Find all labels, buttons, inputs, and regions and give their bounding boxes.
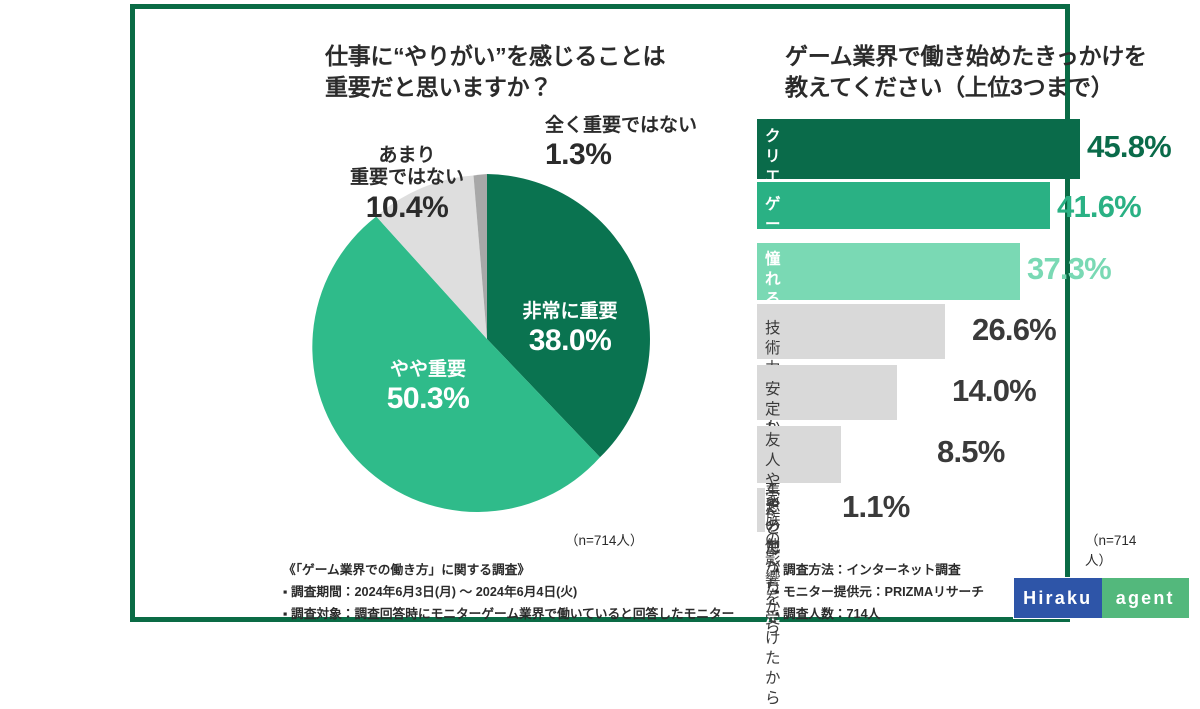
logo-agent-text: agent [1102, 578, 1190, 618]
survey-respondent-count: ▪ 調査人数：714人 [775, 604, 1045, 626]
pie-chart-svg [285, 109, 755, 539]
infographic-canvas: 仕事に“やりがい”を感じることは 重要だと思いますか？ 非 [0, 0, 1200, 630]
bar-value: 45.8% [1087, 129, 1171, 165]
bar-label: その他 [765, 497, 781, 556]
bar-value: 41.6% [1057, 189, 1141, 225]
logo-hiraku-text: Hiraku [1014, 578, 1102, 618]
left-sample-size-note: （n=714人） [565, 529, 643, 549]
bar-value: 37.3% [1027, 251, 1111, 287]
bar-value: 1.1% [842, 489, 909, 525]
survey-method: ▪ 調査方法：インターネット調査 [775, 560, 1045, 582]
content-frame: 仕事に“やりがい”を感じることは 重要だと思いますか？ 非 [130, 4, 1070, 622]
bar-value: 26.6% [972, 312, 1056, 348]
survey-target: ▪ 調査対象：調査回答時にモニターゲーム業界で働いていると回答したモニター [283, 604, 783, 626]
left-margin [0, 0, 130, 630]
bar-rect [757, 119, 1080, 179]
pie-slices [312, 174, 650, 512]
survey-monitor-provider: ▪ モニター提供元：PRIZMAリサーチ [775, 582, 1045, 604]
survey-info-right: ▪ 調査方法：インターネット調査 ▪ モニター提供元：PRIZMAリサーチ ▪ … [775, 560, 1045, 626]
bar-rect [757, 182, 1050, 229]
survey-info-heading: 《「ゲーム業界での働き方」に関する調査》 [283, 560, 783, 582]
bar-rect [757, 304, 945, 359]
bar-chart: クリエイティブな仕事が したかったから45.8%ゲームが好きだから41.6%憧れ… [757, 119, 1197, 519]
left-panel-title: 仕事に“やりがい”を感じることは 重要だと思いますか？ [325, 41, 745, 103]
pie-chart: 非常に重要 38.0% やや重要 50.3% あまり 重要ではない 10.4% … [285, 109, 755, 539]
survey-info-left: 《「ゲーム業界での働き方」に関する調査》 ▪ 調査期間：2024年6月3日(月)… [283, 560, 783, 626]
bar-value: 14.0% [952, 373, 1036, 409]
right-panel-title: ゲーム業界で働き始めたきっかけを 教えてください（上位3つまで） [785, 41, 1200, 103]
bar-value: 8.5% [937, 434, 1004, 470]
right-sample-size-note: （n=714人） [1085, 529, 1136, 569]
hiraku-agent-logo[interactable]: Hiraku agent [1013, 577, 1190, 619]
bar-rect [757, 243, 1020, 300]
bar-rect [757, 488, 765, 532]
survey-period: ▪ 調査期間：2024年6月3日(月) 〜 2024年6月4日(火) [283, 582, 783, 604]
